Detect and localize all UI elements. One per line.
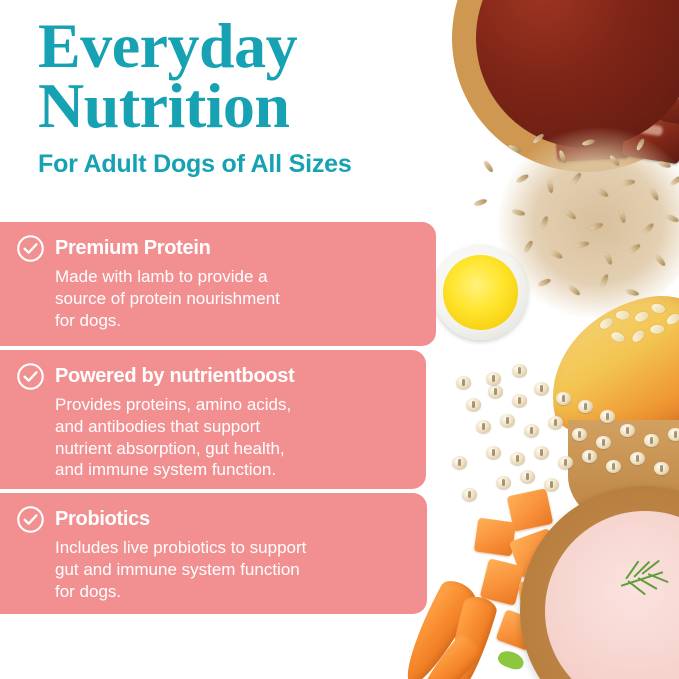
- chicken-bowl-image: [520, 486, 679, 679]
- pumpkin-wedge-image: [535, 282, 679, 454]
- check-circle-icon: [16, 362, 45, 391]
- product-feature-infographic: Everyday Nutrition For Adult Dogs of All…: [0, 0, 679, 679]
- pumpkin-seeds-image: [596, 296, 679, 364]
- oil-bowl-image: [433, 245, 528, 340]
- feature-card-header: Probiotics: [16, 505, 411, 534]
- feature-title: Probiotics: [55, 508, 150, 531]
- barley-bowl-image: [568, 420, 679, 530]
- page-title-line-2: Nutrition: [38, 76, 438, 136]
- feature-card-premium-protein: Premium Protein Made with lamb to provid…: [0, 222, 436, 346]
- check-circle-icon: [16, 234, 45, 263]
- feature-title: Premium Protein: [55, 237, 211, 260]
- check-circle-icon: [16, 505, 45, 534]
- feature-card-probiotics: Probiotics Includes live probiotics to s…: [0, 493, 427, 614]
- dill-sprig-image: [620, 560, 672, 600]
- brown-rice-image: [498, 128, 679, 318]
- feature-body: Provides proteins, amino acids, and anti…: [55, 394, 410, 481]
- feature-title: Powered by nutrientboost: [55, 365, 294, 388]
- feature-card-header: Powered by nutrientboost: [16, 362, 410, 391]
- feature-body: Made with lamb to provide a source of pr…: [55, 266, 420, 331]
- feature-body: Includes live probiotics to support gut …: [55, 537, 411, 602]
- page-subtitle: For Adult Dogs of All Sizes: [38, 150, 438, 179]
- page-title-line-1: Everyday: [38, 16, 438, 76]
- feature-card-header: Premium Protein: [16, 234, 420, 263]
- lamb-bowl-image: [452, 0, 679, 172]
- feature-card-nutrientboost: Powered by nutrientboost Provides protei…: [0, 350, 426, 489]
- headline-block: Everyday Nutrition For Adult Dogs of All…: [38, 16, 438, 179]
